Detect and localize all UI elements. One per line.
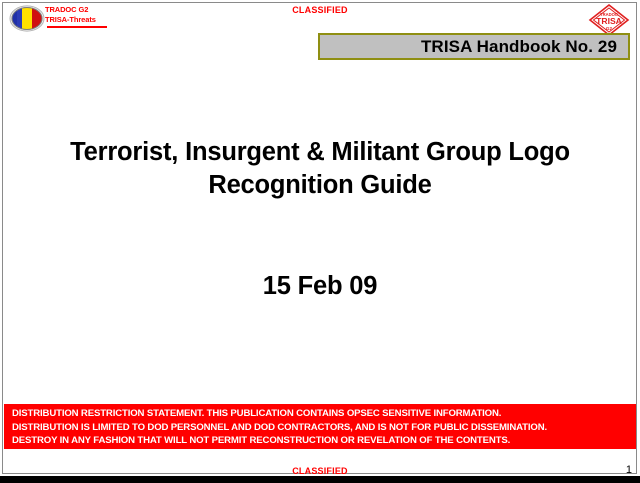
slide-date: 15 Feb 09 bbox=[18, 272, 622, 301]
svg-text:TRISA: TRISA bbox=[596, 16, 622, 26]
restriction-line-1: DISTRIBUTION RESTRICTION STATEMENT. THIS… bbox=[12, 407, 632, 421]
trisa-diamond-logo: TRADOC TRISA G2 bbox=[588, 3, 630, 37]
slide-title: Terrorist, Insurgent & Militant Group Lo… bbox=[18, 136, 622, 202]
slide-title-line-2: Recognition Guide bbox=[18, 169, 622, 202]
slide-left-edge bbox=[0, 0, 2, 477]
svg-text:G2: G2 bbox=[606, 26, 613, 31]
slide-canvas: TRADOC G2 TRISA-Threats CLASSIFIED TRADO… bbox=[0, 0, 640, 483]
slide-title-line-1: Terrorist, Insurgent & Militant Group Lo… bbox=[18, 136, 622, 169]
distribution-restriction-statement: DISTRIBUTION RESTRICTION STATEMENT. THIS… bbox=[4, 404, 636, 449]
restriction-line-3: DESTROY IN ANY FASHION THAT WILL NOT PER… bbox=[12, 434, 632, 448]
handbook-banner: TRISA Handbook No. 29 bbox=[318, 33, 630, 60]
classification-marking-bottom: CLASSIFIED bbox=[0, 466, 640, 476]
restriction-line-2: DISTRIBUTION IS LIMITED TO DOD PERSONNEL… bbox=[12, 421, 632, 435]
classification-marking-top: CLASSIFIED bbox=[0, 5, 640, 15]
tradoc-org-line-2: TRISA-Threats bbox=[45, 15, 125, 25]
page-number: 1 bbox=[626, 464, 632, 476]
handbook-banner-label: TRISA Handbook No. 29 bbox=[421, 37, 628, 57]
tradoc-underline-rule bbox=[47, 26, 107, 28]
slide-bottom-bar bbox=[0, 476, 640, 483]
